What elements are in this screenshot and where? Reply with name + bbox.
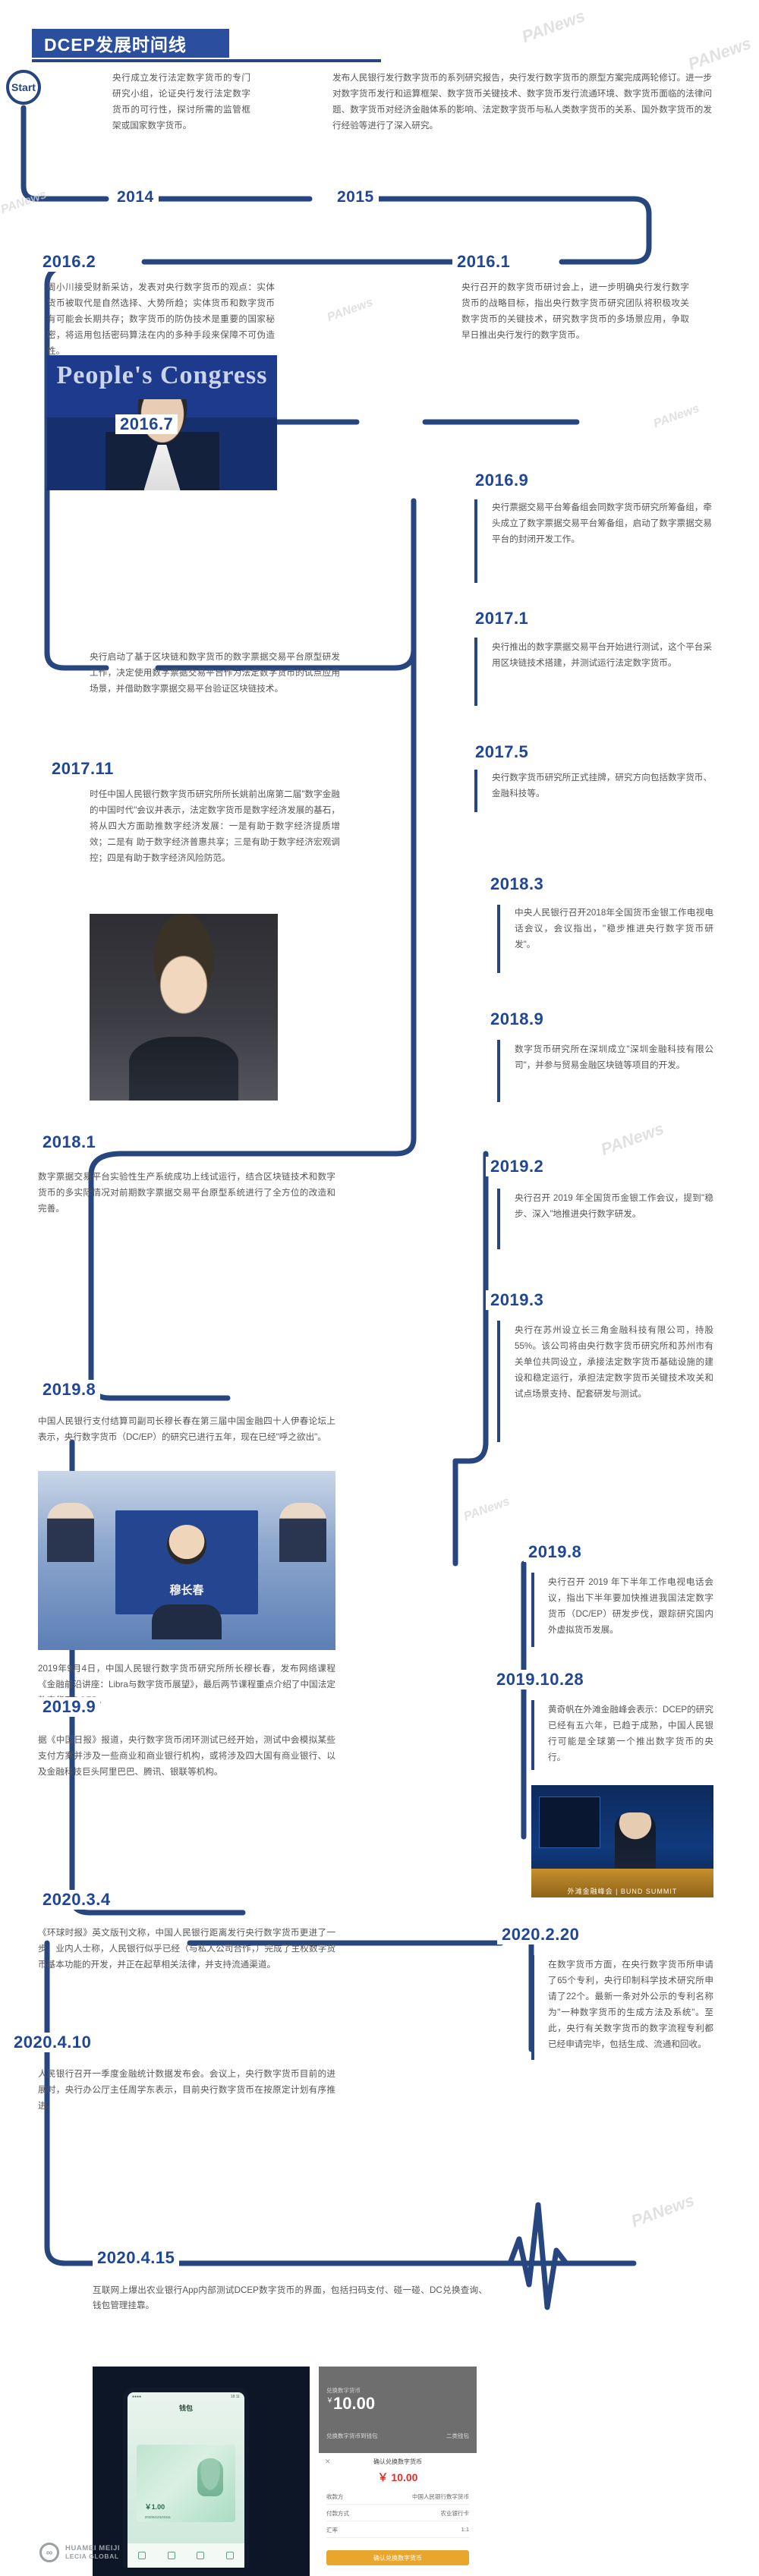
sheet-row-label: 收款方 [326,2493,344,2501]
sheet-row-value: 农业银行卡 [441,2509,470,2518]
year-label-2018-9: 2018.9 [486,1009,548,1029]
year-label-2016-7: 2016.7 [115,414,178,434]
entry-text-2018-3: 中央人民银行召开2018年全国货币金银工作电视电话会议，会议指出，"稳步推进央行… [515,905,713,953]
sheet-row-value: 中国人民银行数字货币 [412,2493,469,2501]
year-label-2020-2-20: 2020.2.20 [497,1925,584,1945]
panel-row-right: 二类钱包 [446,2432,469,2440]
watermark: PANews [598,1119,666,1160]
year-label-2018-3: 2018.3 [486,874,548,894]
entry-text-2017-11: 时任中国人民银行数字货币研究所所长姚前出席第二届"数字金融的中国时代"会议并表示… [90,786,340,866]
sheet-row-label: 付款方式 [326,2509,349,2518]
tab-icon-touch[interactable] [168,2552,175,2559]
footer-logo: ∞ HUAMEI MEIJI LECIA GLOBAL [39,2543,120,2562]
year-label-2019-2: 2019.2 [486,1157,548,1176]
phone-tabbar[interactable] [128,2543,244,2568]
entry-text-2017-5: 央行数字货币研究所正式挂牌，研究方向包括数字货币、金融科技等。 [492,770,712,801]
wallet-title: 钱包 [128,2403,244,2413]
entry-text-2019-8-right: 央行召开 2019 年下半年工作电视电话会议，指出下半年要加快推进我国法定数字货… [548,1574,713,1638]
phone-screen: ●●●●18:11 钱包 ￥1.00 20200410103111 [123,2388,249,2568]
entry-accent-bar [497,1321,500,1442]
entry-text-2015: 发布人民银行发行数字货币的系列研究报告，央行发行数字货币的原型方案完成两轮修订。… [332,70,712,134]
photo-abc-app-phone: ●●●●18:11 钱包 ￥1.00 20200410103111 [93,2367,310,2576]
panel-amount-value: 10.00 [333,2394,375,2413]
header-underline [32,59,381,62]
photo-speaker-head [167,1525,206,1564]
entry-text-2018-1: 数字票据交易平台实验性生产系统成功上线试运行，结合区块链技术和数字货币的多实际情… [38,1169,335,1217]
panel-row-left: 兑换数字货币到钱包 [326,2432,378,2440]
entry-text-2020-3-4: 《环球时报》英文版刊文称，中国人民银行距离发行央行数字货币更进了一步。业内人士称… [38,1925,335,1973]
entry-accent-bar [474,770,477,812]
year-label-2019-10-28: 2019.10.28 [492,1670,588,1690]
entry-text-2014: 央行成立发行法定数字货币的专门研究小组，论证央行发行法定数字货币的可行性，探讨所… [112,70,250,134]
year-label-2019-9: 2019.9 [38,1697,100,1717]
photo-speaker [615,1812,656,1872]
year-label-2016-2: 2016.2 [38,252,100,272]
entry-accent-bar [474,499,477,583]
entry-text-2019-3: 央行在苏州设立长三角金融科技有限公司，持股55%。该公司将由央行数字货币研究所和… [515,1322,713,1402]
watermark: PANews [685,33,754,74]
watermark: PANews [519,6,587,47]
entry-text-2016-9: 央行票据交易平台筹备组会同数字货币研究所筹备组，牵头成立了数字票据交易平台筹备组… [492,499,712,547]
banknote-card: ￥1.00 20200410103111 [137,2445,235,2522]
entry-text-2020-4-15: 互联网上爆出农业银行App内部测试DCEP数字货币的界面，包括扫码支付、碰一碰、… [93,2283,487,2313]
photo-mu-changchun: 穆长春 [38,1471,335,1650]
photo-portrait-yao-qian [90,914,278,1101]
panel-amount: ￥10.00 [326,2394,375,2414]
year-label-2017-11: 2017.11 [47,759,118,779]
year-label-2016-9: 2016.9 [471,471,533,490]
sheet-confirm-button[interactable]: 确认兑换数字货币 [326,2550,469,2565]
brand-mark-icon: ∞ [39,2543,59,2562]
photo-figure-left [47,1503,94,1562]
year-label-2017-5: 2017.5 [471,742,533,762]
entry-text-2020-4-10: 人民银行召开一季度金融统计数据发布会。会议上，央行数字货币目前的进展时，央行办公… [38,2066,335,2114]
photo-screen [539,1797,601,1848]
year-label-2017-1: 2017.1 [471,609,533,628]
dcep-confirm-sheet: ✕ 确认兑换数字货币 ￥ 10.00 收款方 中国人民银行数字货币 付款方式 农… [319,2453,477,2576]
sheet-amount: ￥ 10.00 [319,2470,477,2485]
banknote-serial: 20200410103111 [145,2515,171,2519]
year-label-2020-4-10: 2020.4.10 [9,2033,96,2052]
photo-podium-label: 外滩金融峰会 | BUND SUMMIT [531,1886,713,1896]
entry-accent-bar [497,1040,500,1102]
page-title: DCEP发展时间线 [44,30,187,56]
entry-text-2019-10-28: 黄奇帆在外滩金融峰会表示：DCEP的研究已经有五六年，已趋于成熟，中国人民银行可… [548,1702,713,1765]
sheet-row: 付款方式 农业银行卡 [326,2509,469,2521]
entry-text-2019-2: 央行召开 2019 年全国货币金银工作会议，提到"稳步、深入"地推进央行数字研发… [515,1190,713,1222]
entry-accent-bar [497,905,500,973]
year-label-2020-4-15: 2020.4.15 [93,2248,179,2268]
year-label-2014: 2014 [112,188,159,206]
page-header-bar: DCEP发展时间线 [32,29,229,58]
entry-accent-bar [474,638,477,706]
entry-accent-bar [531,1955,534,2060]
phone-status-bar: ●●●●18:11 [132,2395,240,2399]
year-label-2016-1: 2016.1 [452,252,515,272]
panel-currency: ￥ [326,2397,333,2404]
sheet-row-value: 1:1 [461,2526,469,2534]
watermark: PANews [0,188,49,217]
photo-caption-congress: People's Congress [47,361,277,390]
year-label-2019-8-left: 2019.8 [38,1380,100,1400]
photo-caption-mu: 穆长春 [115,1582,258,1598]
tab-icon-exchange[interactable] [197,2552,204,2559]
photo-bund-summit: 外滩金融峰会 | BUND SUMMIT [531,1785,713,1897]
entry-text-2017-1: 央行推出的数字票据交易平台开始进行测试，这个平台采用区块链技术搭建，并测试运行法… [492,639,712,671]
sheet-row: 收款方 中国人民银行数字货币 [326,2493,469,2505]
entry-accent-bar [497,1189,500,1249]
tab-icon-scan[interactable] [138,2552,146,2559]
entry-accent-bar [531,1700,534,1770]
entry-text-2016-1: 央行召开的数字货币研讨会上，进一步明确央行发行数字货币的战略目标，指出央行数字货… [461,279,689,343]
year-label-2015: 2015 [332,188,379,206]
start-badge: Start [6,70,41,105]
year-label-2018-1: 2018.1 [38,1132,100,1152]
year-label-2020-3-4: 2020.3.4 [38,1890,115,1910]
photo-speaker-body [152,1604,222,1639]
watermark: PANews [326,296,375,325]
footer-brand-text: HUAMEI MEIJI LECIA GLOBAL [65,2545,120,2561]
entry-text-2019-9: 据《中国日报》报道，央行数字货币闭环测试已经开始，测试中会模拟某些支付方案并涉及… [38,1732,335,1780]
panel-row: 兑换数字货币到钱包 二类钱包 [326,2432,469,2440]
banknote-portrait [197,2458,223,2496]
photo-podium: 外滩金融峰会 | BUND SUMMIT [531,1869,713,1897]
footer-brand-line2: LECIA GLOBAL [65,2552,119,2560]
year-label-2019-8-right: 2019.8 [524,1542,586,1562]
entry-text-2016-2: 周小川接受财新采访，发表对央行数字货币的观点：实体货币被取代是自然选择、大势所趋… [47,279,275,359]
sheet-row-label: 汇率 [326,2526,338,2534]
photo-figure-right [279,1503,326,1562]
banknote-amount: ￥1.00 [145,2502,165,2511]
entry-text-2020-2-20: 在数字货币方面，在央行数字货币所申请了65个专利，央行印制科学技术研究所申请了2… [548,1957,713,2053]
watermark: PANews [652,402,701,431]
sheet-title: 确认兑换数字货币 [319,2458,477,2466]
entry-text-2016-7: 央行启动了基于区块链和数字货币的数字票据交易平台原型研发工作，决定使用数字票据交… [90,649,340,697]
watermark: PANews [628,2190,697,2231]
entry-accent-bar [531,1573,534,1647]
watermark: PANews [462,1495,512,1524]
tab-icon-manage[interactable] [226,2552,234,2559]
start-label: Start [11,81,36,93]
ecg-pulse-icon [486,2205,622,2307]
year-label-2019-3: 2019.3 [486,1290,548,1310]
sheet-row: 汇率 1:1 [326,2526,469,2538]
entry-text-2019-8-left: 中国人民银行支付结算司副司长穆长春在第三届中国金融四十人伊春论坛上表示，央行数字… [38,1413,335,1445]
entry-text-2018-9: 数字货币研究所在深圳成立"深圳金融科技有限公司"，并参与贸易金融区块链等项目的开… [515,1041,713,1073]
